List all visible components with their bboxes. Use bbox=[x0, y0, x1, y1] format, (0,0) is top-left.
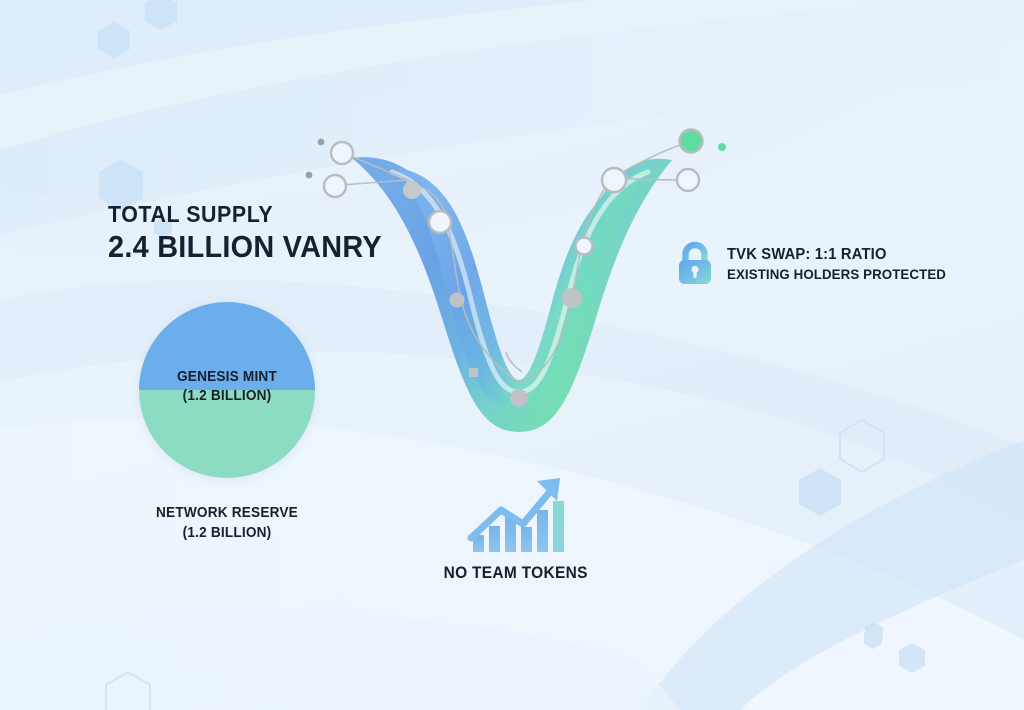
headline-line-2: 2.4 BILLION VANRY bbox=[108, 228, 382, 265]
no-team-tokens-label: NO TEAM TOKENS bbox=[400, 562, 632, 584]
no-team-tokens-text: NO TEAM TOKENS bbox=[444, 562, 588, 584]
tvk-swap-subtitle: EXISTING HOLDERS PROTECTED bbox=[727, 265, 946, 283]
growth-chart-icon bbox=[467, 470, 571, 552]
page-title: TOTAL SUPPLY 2.4 BILLION VANRY bbox=[108, 200, 402, 265]
genesis-mint-name: GENESIS MINT bbox=[144, 368, 309, 387]
network-reserve-label: NETWORK RESERVE (1.2 BILLION) bbox=[115, 503, 339, 543]
tvk-swap-text: TVK SWAP: 1:1 RATIO EXISTING HOLDERS PRO… bbox=[727, 245, 958, 283]
lock-icon bbox=[672, 240, 718, 288]
genesis-mint-value: (1.2 BILLION) bbox=[144, 387, 309, 406]
headline-line-1: TOTAL SUPPLY bbox=[108, 200, 382, 228]
infographic-canvas: TOTAL SUPPLY 2.4 BILLION VANRY GENESIS M… bbox=[0, 0, 1024, 710]
genesis-mint-label: GENESIS MINT (1.2 BILLION) bbox=[139, 368, 315, 406]
network-reserve-value: (1.2 BILLION) bbox=[122, 523, 333, 543]
tvk-swap-title: TVK SWAP: 1:1 RATIO bbox=[727, 245, 946, 265]
network-reserve-name: NETWORK RESERVE bbox=[122, 503, 333, 523]
